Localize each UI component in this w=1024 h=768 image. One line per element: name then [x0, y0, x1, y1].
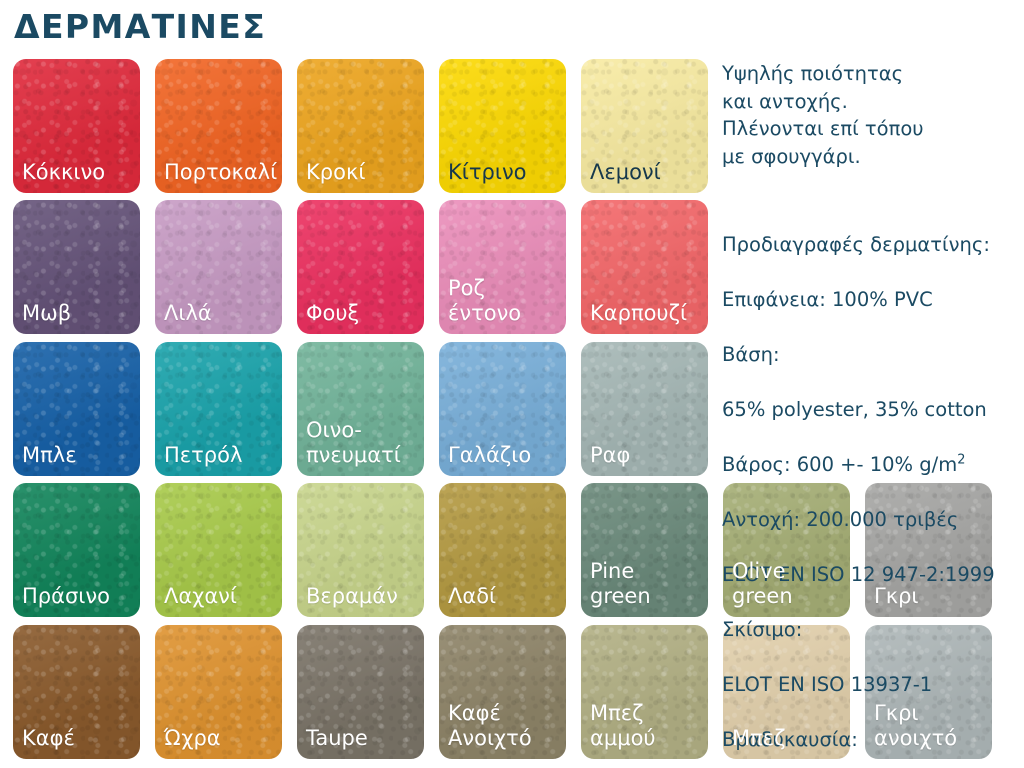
spec-line-base-label: Βάση:	[722, 341, 1022, 369]
color-swatch[interactable]: Ώχρα	[155, 625, 282, 759]
swatch-label: Μωβ	[22, 301, 135, 326]
color-swatch[interactable]: Πετρόλ	[155, 342, 282, 476]
spec-line-title: Προδιαγραφές δερματίνης:	[722, 231, 1022, 259]
swatch-label: Καρπουζί	[590, 301, 703, 326]
color-swatch[interactable]: Ροζ έντονο	[439, 200, 566, 334]
swatch-label: Λαδί	[448, 584, 561, 609]
swatch-label: Pine green	[590, 559, 703, 609]
swatch-label: Οινο- πνευματί	[306, 418, 419, 468]
swatch-label: Φουξ	[306, 301, 419, 326]
swatch-label: Μπεζ αμμού	[590, 701, 703, 751]
swatch-label: Γκρι ανοιχτό	[874, 701, 987, 751]
swatch-label: Λεμονί	[590, 160, 703, 185]
color-swatch[interactable]: Taupe	[297, 625, 424, 759]
swatch-label: Ραφ	[590, 443, 703, 468]
spec-line-base-value: 65% polyester, 35% cotton	[722, 396, 1022, 424]
swatch-label: Κόκκινο	[22, 160, 135, 185]
spec-line-abrasion: Αντοχή: 200.000 τριβές	[722, 506, 1022, 534]
swatch-label: Πετρόλ	[164, 443, 277, 468]
swatch-label: Λιλά	[164, 301, 277, 326]
swatch-label: Καφέ Ανοιχτό	[448, 701, 561, 751]
spec-weight-exponent: 2	[957, 452, 965, 467]
color-swatch[interactable]: Λιλά	[155, 200, 282, 334]
swatch-label: Μπεζ	[732, 726, 845, 751]
swatch-label: Κροκί	[306, 160, 419, 185]
spec-line-tear-std: ELOT EN ISO 13937-1	[722, 671, 1022, 699]
spec-weight-text: Βάρος: 600 +- 10% g/m	[722, 453, 957, 476]
color-swatch[interactable]: Μπλε	[13, 342, 140, 476]
swatch-label: Ώχρα	[164, 726, 277, 751]
color-chart-page: ΔΕΡΜΑΤΙΝΕΣ ΚόκκινοΠορτοκαλίΚροκίΚίτρινοΛ…	[0, 0, 1024, 768]
color-swatch[interactable]: Λαδί	[439, 483, 566, 617]
color-swatch[interactable]: Πράσινο	[13, 483, 140, 617]
color-swatch[interactable]: Πορτοκαλί	[155, 59, 282, 193]
swatch-label: Γαλάζιο	[448, 443, 561, 468]
info-quality-text: Υψηλής ποιότητας και αντοχής. Πλένονται …	[722, 60, 1022, 170]
color-swatch[interactable]: Κίτρινο	[439, 59, 566, 193]
swatch-label: Πορτοκαλί	[164, 160, 277, 185]
spec-line-weight: Βάρος: 600 +- 10% g/m2	[722, 451, 1022, 479]
color-swatch[interactable]: Οινο- πνευματί	[297, 342, 424, 476]
swatch-label: Πράσινο	[22, 584, 135, 609]
color-swatch[interactable]: Φουξ	[297, 200, 424, 334]
spec-line-surface: Επιφάνεια: 100% PVC	[722, 286, 1022, 314]
color-swatch[interactable]: Λαχανί	[155, 483, 282, 617]
color-swatch[interactable]: Pine green	[581, 483, 708, 617]
color-swatch[interactable]: Καφέ Ανοιχτό	[439, 625, 566, 759]
color-swatch[interactable]: Βεραμάν	[297, 483, 424, 617]
swatch-label: Βεραμάν	[306, 584, 419, 609]
color-swatch[interactable]: Μωβ	[13, 200, 140, 334]
swatch-label: Taupe	[306, 726, 419, 751]
swatch-label: Μπλε	[22, 443, 135, 468]
color-swatch[interactable]: Κροκί	[297, 59, 424, 193]
swatch-label: Κίτρινο	[448, 160, 561, 185]
color-swatch[interactable]: Καρπουζί	[581, 200, 708, 334]
color-swatch[interactable]: Ραφ	[581, 342, 708, 476]
color-swatch[interactable]: Κόκκινο	[13, 59, 140, 193]
swatch-label: Olive green	[732, 559, 845, 609]
swatch-label: Λαχανί	[164, 584, 277, 609]
color-swatch[interactable]: Μπεζ αμμού	[581, 625, 708, 759]
color-swatch[interactable]: Γαλάζιο	[439, 342, 566, 476]
page-title: ΔΕΡΜΑΤΙΝΕΣ	[14, 7, 266, 47]
color-swatch[interactable]: Καφέ	[13, 625, 140, 759]
swatch-label: Ροζ έντονο	[448, 276, 561, 326]
spec-line-tear-label: Σκίσιμο:	[722, 616, 1022, 644]
swatch-label: Γκρι	[874, 584, 987, 609]
color-swatch[interactable]: Λεμονί	[581, 59, 708, 193]
info-specifications-text: Προδιαγραφές δερματίνης: Επιφάνεια: 100%…	[722, 203, 1022, 768]
swatch-label: Καφέ	[22, 726, 135, 751]
